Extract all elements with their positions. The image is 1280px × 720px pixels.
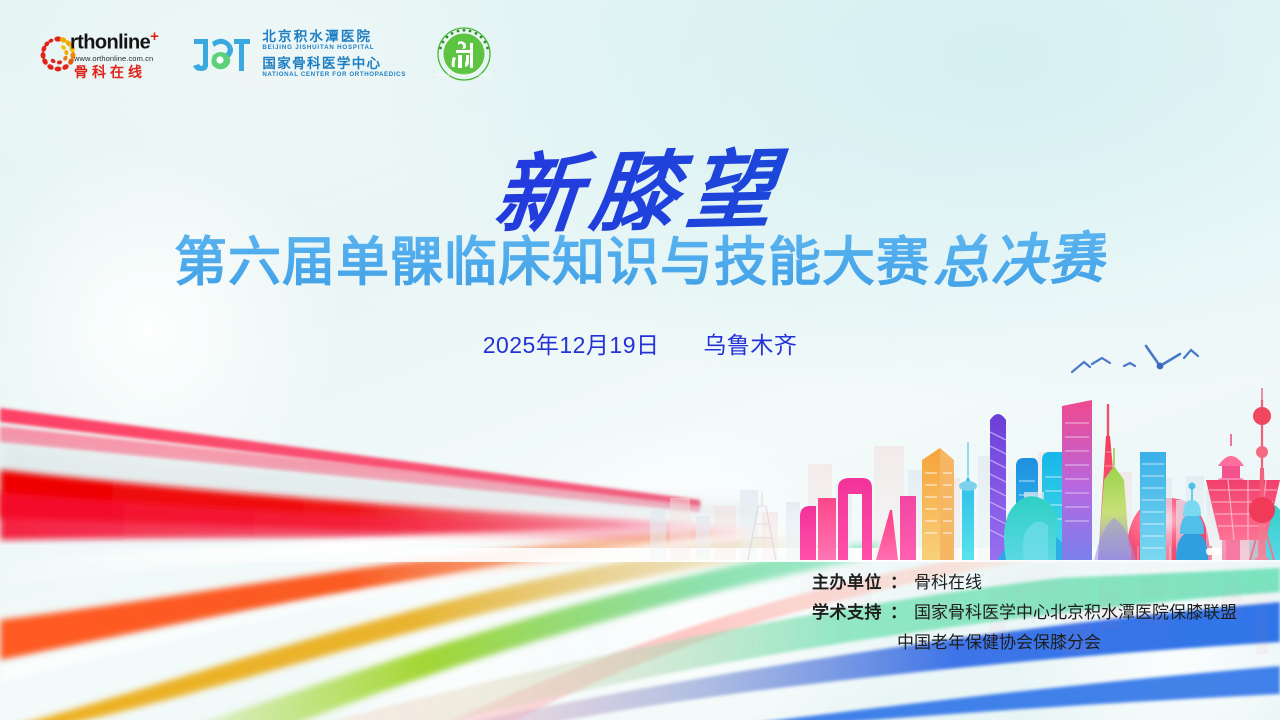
poster-canvas: rthonline+ www.orthonline.com.cn 骨科在线 北京… (0, 0, 1280, 720)
jishuitan-en-1: BEIJING JISHUITAN HOSPITAL (262, 45, 406, 51)
jishuitan-en-2: NATIONAL CENTER FOR ORTHOPAEDICS (262, 72, 406, 78)
svg-text:CHINA AGING HEALTH ASSOCIATION: CHINA AGING HEALTH ASSOCIATION (436, 73, 492, 77)
organizer-host-value: 骨科在线 (914, 568, 982, 598)
green-seal-icon: CHINA AGING HEALTH ASSOCIATION (436, 26, 492, 82)
logo-orthonline[interactable]: rthonline+ www.orthonline.com.cn 骨科在线 (38, 29, 158, 79)
organizer-support-label: 学术支持 (812, 598, 890, 628)
organizer-support-line-2: 中国老年保健协会保膝分会 (897, 628, 1237, 658)
logo-bar: rthonline+ www.orthonline.com.cn 骨科在线 北京… (38, 26, 492, 82)
colon: ： (890, 568, 907, 598)
organizer-block: 主办单位 ： 骨科在线 学术支持 ： 国家骨科医学中心北京积水潭医院保膝联盟 中… (812, 568, 1237, 658)
jst-icon (188, 33, 254, 75)
organizer-host-line: 主办单位 ： 骨科在线 (812, 568, 1237, 598)
colon: ： (890, 598, 907, 628)
subtitle-calligraphy: 总决赛 (931, 213, 1108, 300)
jishuitan-wordmark: 北京积水潭医院 BEIJING JISHUITAN HOSPITAL 国家骨科医… (262, 30, 406, 78)
jishuitan-cn-2: 国家骨科医学中心 (262, 57, 406, 71)
orthonline-url: www.orthonline.com.cn (74, 55, 158, 63)
organizer-host-label: 主办单位 (812, 568, 890, 598)
organizer-support-value-1: 国家骨科医学中心北京积水潭医院保膝联盟 (914, 598, 1237, 628)
plus-icon: + (150, 28, 158, 45)
logo-jishuitan[interactable]: 北京积水潭医院 BEIJING JISHUITAN HOSPITAL 国家骨科医… (188, 30, 406, 78)
jishuitan-cn-1: 北京积水潭医院 (262, 30, 406, 44)
organizer-support-value-2: 中国老年保健协会保膝分会 (897, 628, 1101, 658)
organizer-support-line: 学术支持 ： 国家骨科医学中心北京积水潭医院保膝联盟 (812, 598, 1237, 628)
logo-green-seal[interactable]: CHINA AGING HEALTH ASSOCIATION (436, 26, 492, 82)
orthonline-wordmark: rthonline+ www.orthonline.com.cn 骨科在线 (84, 29, 158, 79)
event-datetime-location: 2025年12月19日 乌鲁木齐 (0, 326, 1280, 360)
orthonline-cn: 骨科在线 (74, 65, 158, 79)
event-city: 乌鲁木齐 (703, 332, 797, 358)
orthonline-en: rthonline+ (70, 29, 158, 53)
subtitle-row: 第六届单髁临床知识与技能大赛 总决赛 (0, 216, 1280, 297)
event-date: 2025年12月19日 (483, 332, 660, 358)
subtitle-main: 第六届单髁临床知识与技能大赛 (174, 220, 930, 296)
